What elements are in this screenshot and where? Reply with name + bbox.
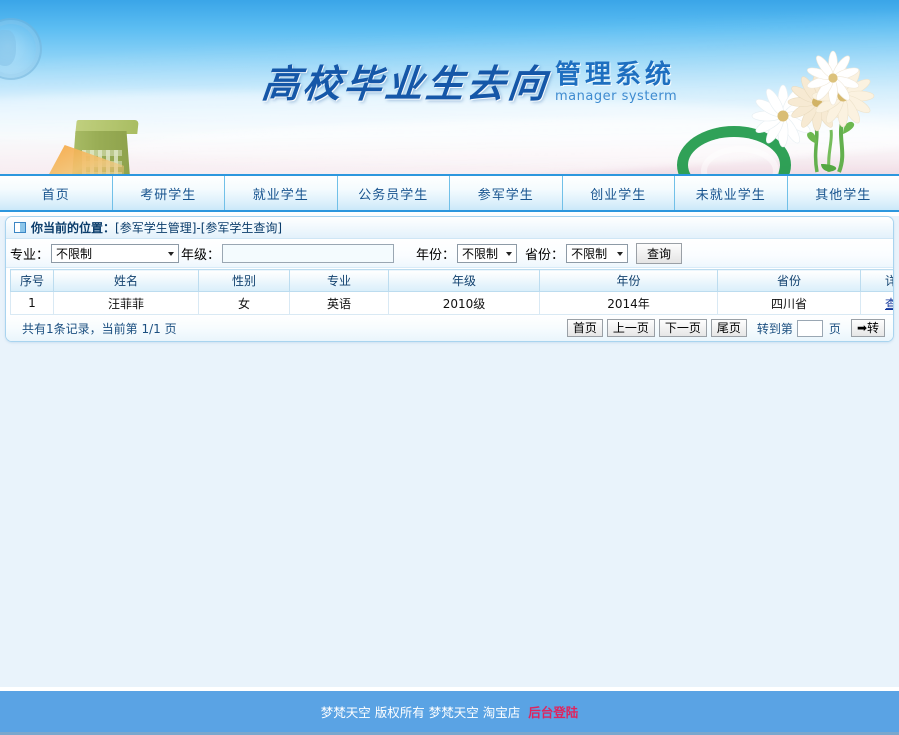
goto-label: 转到第 — [757, 320, 793, 337]
page-unit-label: 页 — [829, 320, 841, 337]
view-detail-link[interactable]: 查看 — [885, 297, 894, 311]
nav-label: 考研学生 — [140, 184, 196, 203]
nav-item-postgrad[interactable]: 考研学生 — [113, 176, 226, 210]
last-page-button[interactable]: 尾页 — [711, 319, 747, 337]
cell-major: 英语 — [290, 292, 389, 315]
nav-label: 创业学生 — [590, 184, 646, 203]
cell-name: 汪菲菲 — [54, 292, 199, 315]
nav-label: 就业学生 — [253, 184, 309, 203]
header-name: 姓名 — [54, 270, 199, 292]
header-no: 序号 — [11, 270, 54, 292]
site-title-sub-cn: 管理系统 — [555, 62, 677, 88]
nav-item-entrepreneur[interactable]: 创业学生 — [563, 176, 676, 210]
results-table-wrapper: 序号 姓名 性别 专业 年级 年份 省份 详情 1 汪菲菲 女 — [6, 268, 893, 315]
site-title-sub-en: manager systerm — [555, 90, 677, 103]
header-detail: 详情 — [861, 270, 895, 292]
nav-item-military[interactable]: 参军学生 — [450, 176, 563, 210]
next-page-button[interactable]: 下一页 — [659, 319, 707, 337]
header-sex: 性别 — [199, 270, 290, 292]
document-icon — [14, 222, 26, 233]
nav-label: 参军学生 — [478, 184, 534, 203]
nav-item-unemployed[interactable]: 未就业学生 — [675, 176, 788, 210]
nav-item-other[interactable]: 其他学生 — [788, 176, 899, 210]
goto-page-input[interactable] — [797, 320, 823, 337]
nav-label: 未就业学生 — [696, 184, 766, 203]
pagination-controls: 首页 上一页 下一页 尾页 转到第 页 ➡转 — [567, 319, 885, 337]
record-summary: 共有1条记录，当前第 1/1 页 — [22, 320, 177, 337]
content-panel: 你当前的位置： [参军学生管理]-[参军学生查询] 专业： 不限制 年级： 年份… — [5, 216, 894, 342]
pagination-bar: 共有1条记录，当前第 1/1 页 首页 上一页 下一页 尾页 转到第 页 ➡转 — [6, 315, 893, 341]
province-select-value: 不限制 — [571, 245, 607, 262]
site-banner: 高校毕业生去向 管理系统 manager systerm — [0, 0, 899, 174]
site-title-sub: 管理系统 manager systerm — [555, 62, 677, 103]
footer-copyright: 梦梵天空 版权所有 梦梵天空 淘宝店 — [321, 702, 520, 721]
major-label: 专业： — [10, 244, 49, 263]
query-button[interactable]: 查询 — [636, 243, 682, 264]
grade-input[interactable] — [222, 244, 394, 263]
cell-no: 1 — [11, 292, 54, 315]
cell-sex: 女 — [199, 292, 290, 315]
breadcrumb: 你当前的位置： [参军学生管理]-[参军学生查询] — [6, 217, 893, 239]
major-select[interactable]: 不限制 — [51, 244, 179, 263]
goto-page-button[interactable]: ➡转 — [851, 319, 885, 337]
daisy-svg — [721, 34, 891, 174]
breadcrumb-label: 你当前的位置： — [31, 219, 115, 236]
nav-item-home[interactable]: 首页 — [0, 176, 113, 210]
first-page-button[interactable]: 首页 — [567, 319, 603, 337]
header-province: 省份 — [718, 270, 861, 292]
cell-detail: 查看 — [861, 292, 895, 315]
table-row: 1 汪菲菲 女 英语 2010级 2014年 四川省 查看 — [11, 292, 895, 315]
site-footer: 梦梵天空 版权所有 梦梵天空 淘宝店 后台登陆 — [0, 691, 899, 735]
site-title: 高校毕业生去向 管理系统 manager systerm — [262, 62, 677, 103]
daisy-flowers-illustration — [721, 34, 891, 174]
nav-label: 其他学生 — [815, 184, 871, 203]
province-label: 省份： — [525, 244, 564, 263]
cell-grade: 2010级 — [389, 292, 540, 315]
cell-province: 四川省 — [718, 292, 861, 315]
main-navigation: 首页 考研学生 就业学生 公务员学生 参军学生 创业学生 未就业学生 其他学生 — [0, 174, 899, 212]
nav-item-employed[interactable]: 就业学生 — [225, 176, 338, 210]
year-select[interactable]: 不限制 — [457, 244, 517, 263]
header-grade: 年级 — [389, 270, 540, 292]
nav-item-civil-servant[interactable]: 公务员学生 — [338, 176, 451, 210]
page-content-area: 你当前的位置： [参军学生管理]-[参军学生查询] 专业： 不限制 年级： 年份… — [0, 216, 899, 687]
nav-label: 首页 — [42, 184, 70, 203]
admin-login-link[interactable]: 后台登陆 — [528, 702, 578, 721]
header-major: 专业 — [290, 270, 389, 292]
site-title-main: 高校毕业生去向 — [260, 65, 551, 103]
results-table: 序号 姓名 性别 专业 年级 年份 省份 详情 1 汪菲菲 女 — [10, 269, 894, 315]
grade-label: 年级： — [181, 244, 220, 263]
filter-bar: 专业： 不限制 年级： 年份： 不限制 省份： 不限制 查询 — [6, 239, 893, 268]
province-select[interactable]: 不限制 — [566, 244, 628, 263]
cell-year: 2014年 — [540, 292, 718, 315]
nav-label: 公务员学生 — [358, 184, 428, 203]
table-header-row: 序号 姓名 性别 专业 年级 年份 省份 详情 — [11, 270, 895, 292]
breadcrumb-path: [参军学生管理]-[参军学生查询] — [115, 219, 282, 236]
major-select-value: 不限制 — [56, 245, 92, 262]
year-label: 年份： — [416, 244, 455, 263]
header-year: 年份 — [540, 270, 718, 292]
prev-page-button[interactable]: 上一页 — [607, 319, 655, 337]
year-select-value: 不限制 — [462, 245, 498, 262]
